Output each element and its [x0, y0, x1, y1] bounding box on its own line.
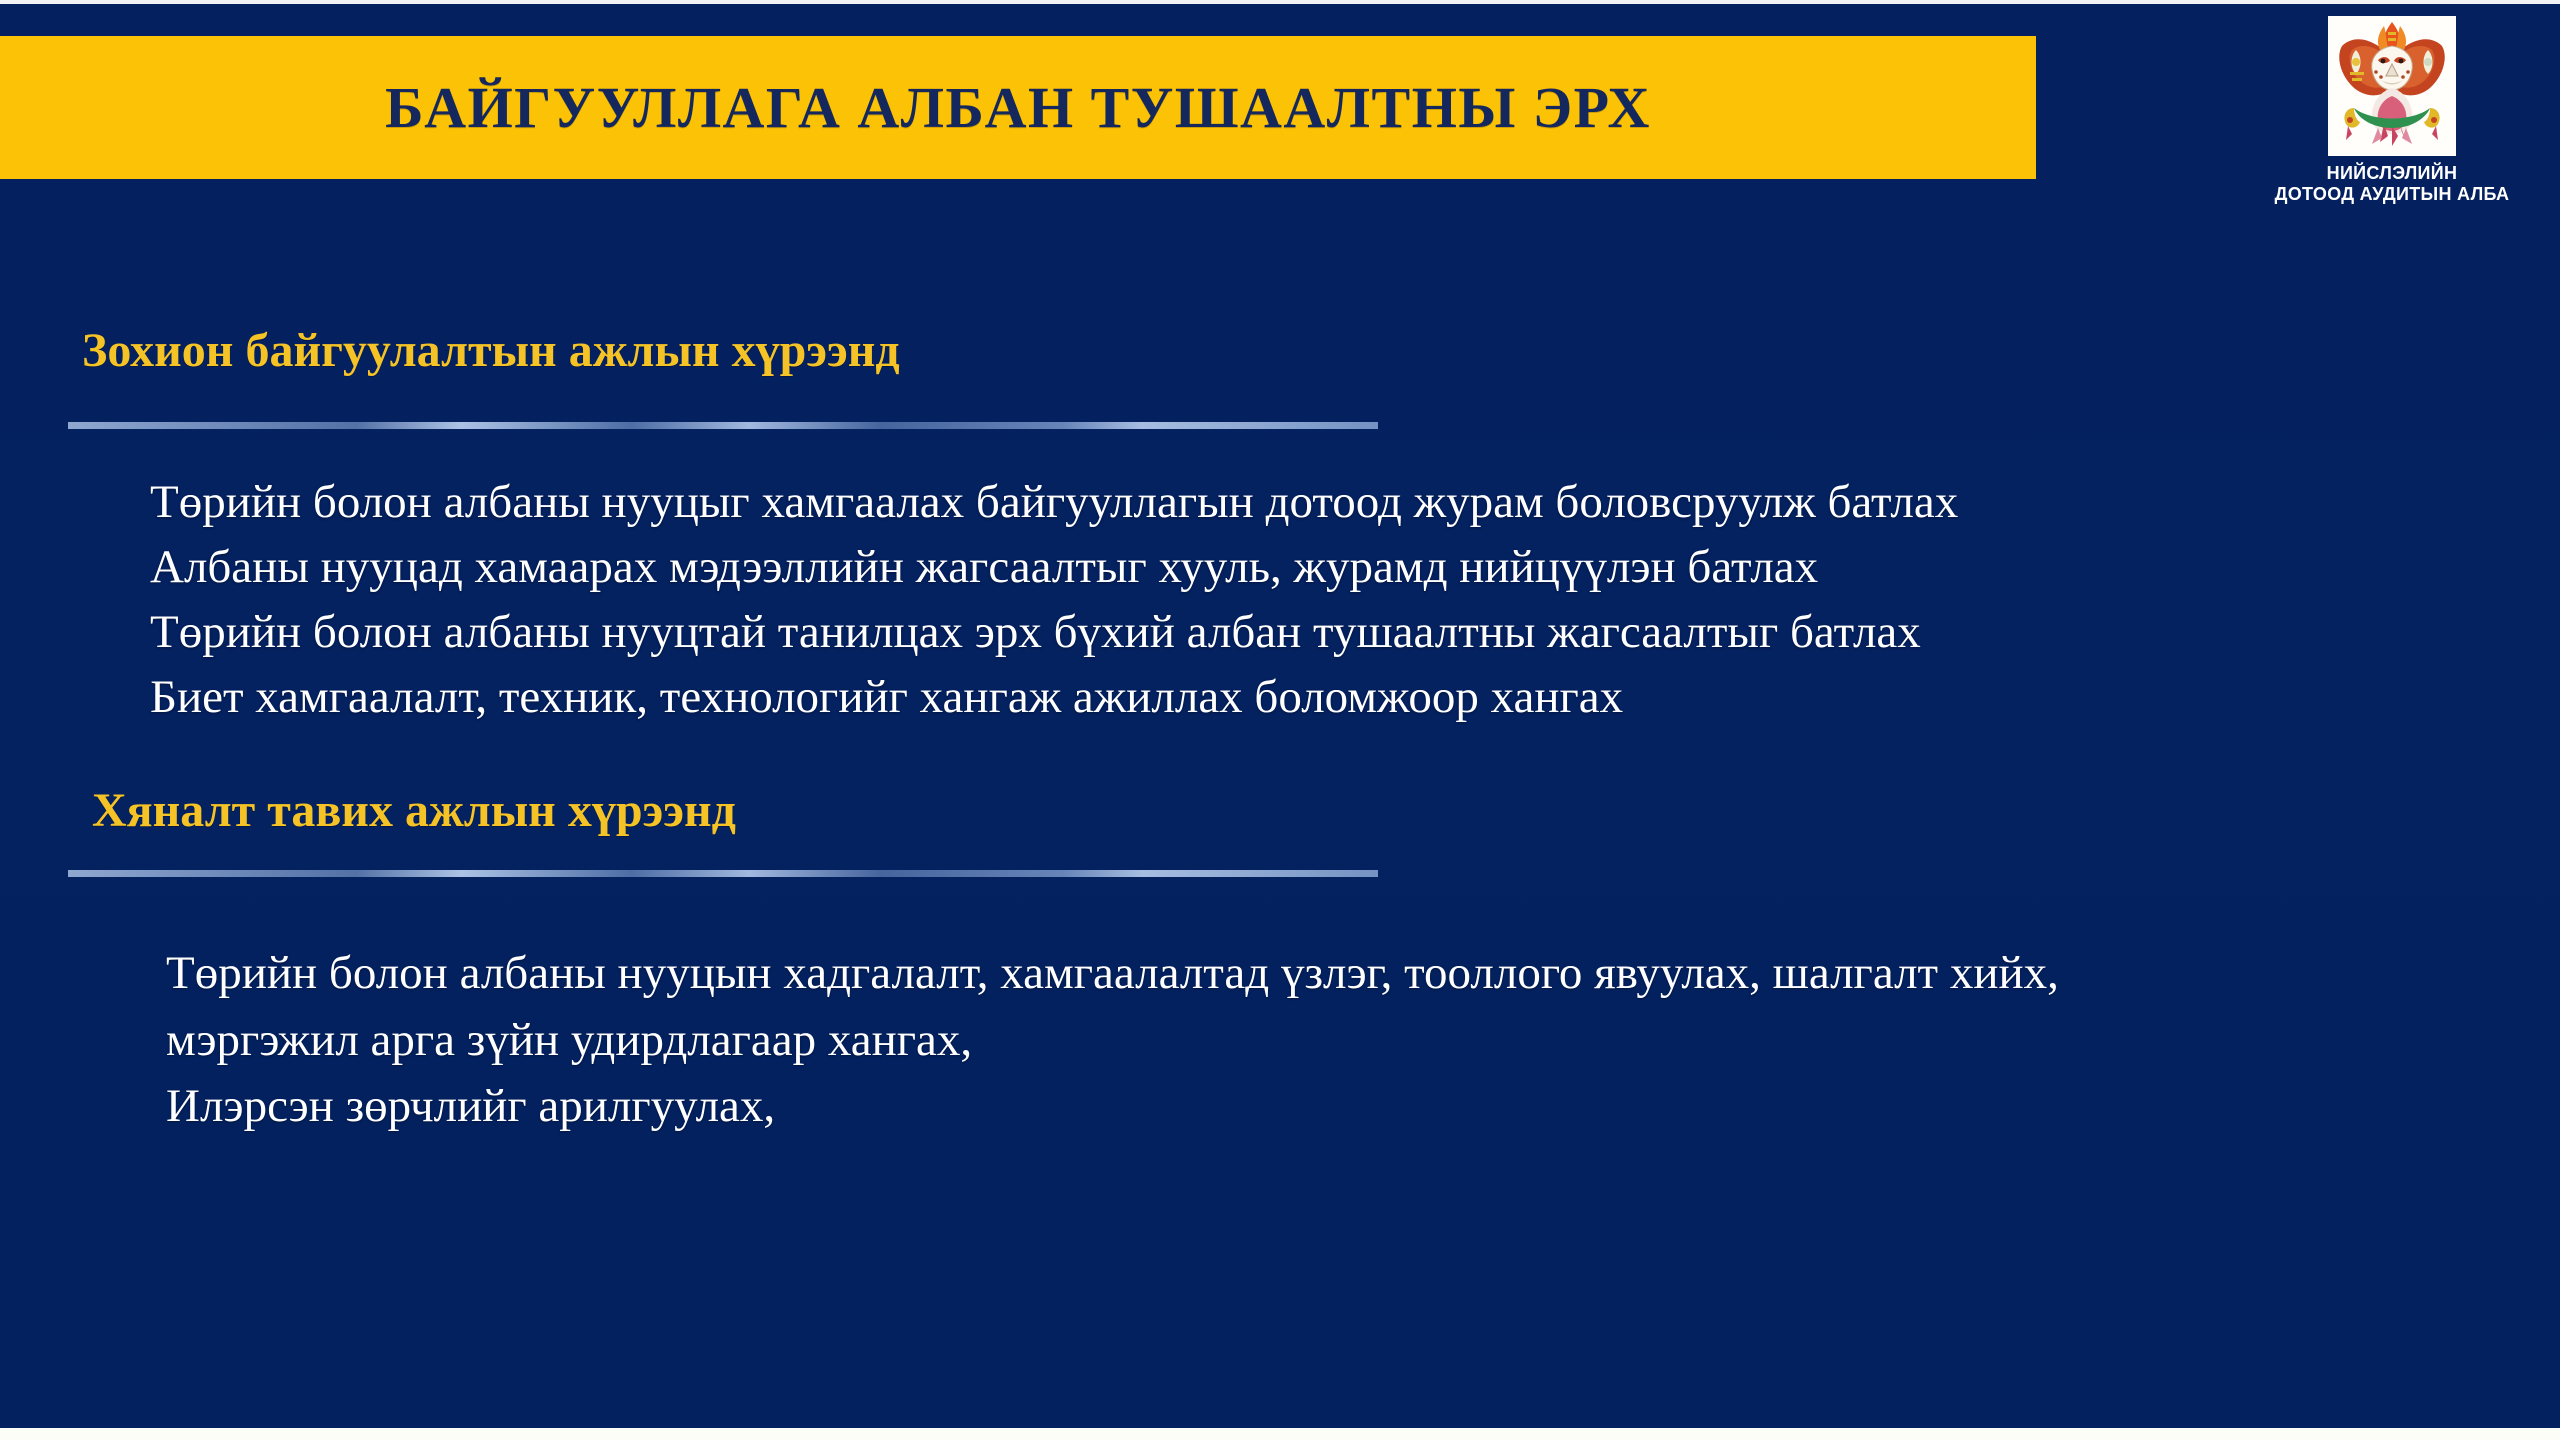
section-body-control: Төрийн болон албаны нууцын хадгалалт, ха…	[166, 940, 2059, 1140]
slide-bottom-edge	[0, 1428, 2560, 1440]
section-body-organizational: Төрийн болон албаны нууцыг хамгаалах бай…	[150, 470, 1958, 729]
slide-canvas: БАЙГУУЛЛАГА АЛБАН ТУШААЛТНЫ ЭРХ	[0, 4, 2560, 1428]
khangarid-garuda-emblem-icon	[2328, 16, 2456, 156]
body-line: Илэрсэн зөрчлийг арилгуулах,	[166, 1073, 2059, 1140]
body-line: мэргэжил арга зүйн удирдлагаар хангах,	[166, 1007, 2059, 1074]
organization-logo-block: НИЙСЛЭЛИЙН ДОТООД АУДИТЫН АЛБА	[2242, 16, 2542, 205]
body-line: Албаны нууцад хамаарах мэдээллийн жагсаа…	[150, 535, 1958, 600]
organization-caption-line-2: ДОТООД АУДИТЫН АЛБА	[2275, 184, 2510, 205]
body-line: Төрийн болон албаны нууцын хадгалалт, ха…	[166, 940, 2059, 1007]
body-line: Төрийн болон албаны нууцтай танилцах эрх…	[150, 600, 1958, 665]
section-heading-organizational: Зохион байгуулалтын ажлын хүрээнд	[82, 326, 900, 376]
section-divider-2	[68, 870, 1378, 877]
body-line: Төрийн болон албаны нууцыг хамгаалах бай…	[150, 470, 1958, 535]
presentation-slide: БАЙГУУЛЛАГА АЛБАН ТУШААЛТНЫ ЭРХ	[0, 0, 2560, 1440]
body-line: Биет хамгаалалт, техник, технологийг хан…	[150, 665, 1958, 730]
slide-title: БАЙГУУЛЛАГА АЛБАН ТУШААЛТНЫ ЭРХ	[385, 79, 1651, 137]
organization-caption: НИЙСЛЭЛИЙН ДОТООД АУДИТЫН АЛБА	[2275, 163, 2510, 205]
section-heading-control: Хяналт тавих ажлын хүрээнд	[92, 786, 736, 836]
slide-title-banner: БАЙГУУЛЛАГА АЛБАН ТУШААЛТНЫ ЭРХ	[0, 36, 2036, 179]
section-divider-1	[68, 422, 1378, 429]
organization-caption-line-1: НИЙСЛЭЛИЙН	[2275, 163, 2510, 184]
